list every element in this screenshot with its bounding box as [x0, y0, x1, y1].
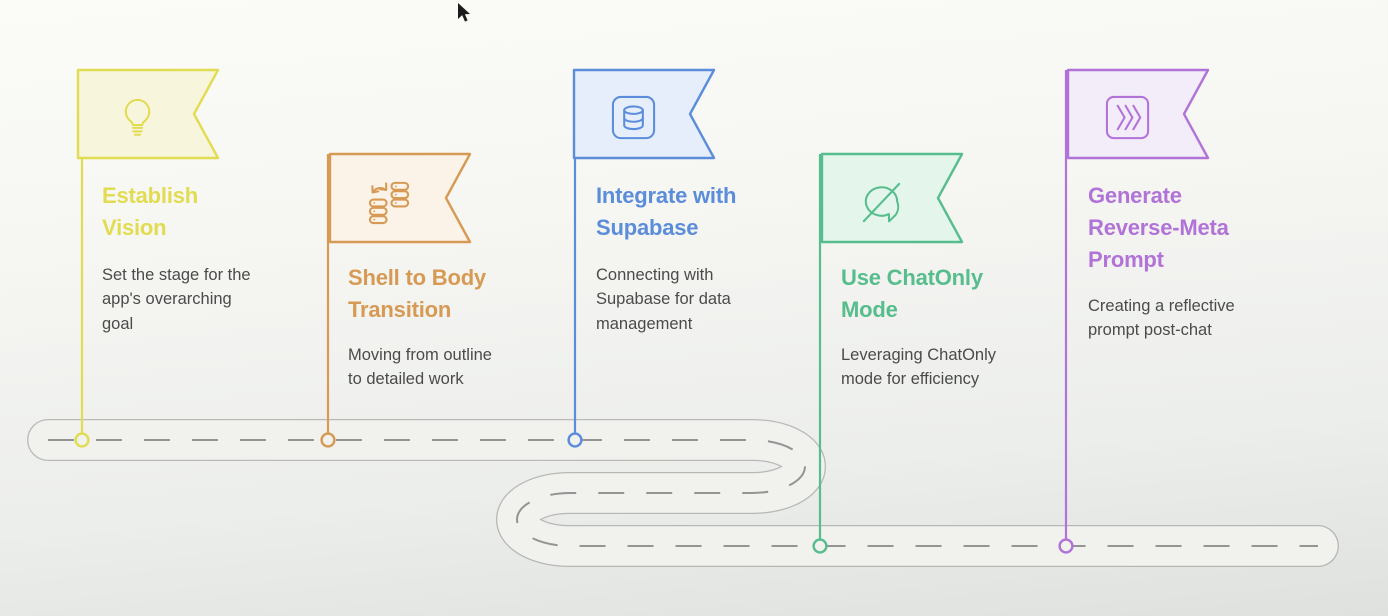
milestone-title: Integrate with Supabase — [596, 180, 791, 244]
milestone-description: Connecting with Supabase for data manage… — [596, 263, 791, 336]
mouse-pointer-icon — [456, 2, 474, 26]
milestone-marker — [569, 434, 582, 447]
milestone-description: Creating a reflective prompt post-chat — [1088, 294, 1288, 343]
milestone-description: Leveraging ChatOnly mode for efficiency — [841, 343, 1041, 392]
server-sync-icon — [328, 150, 568, 246]
milestone-marker — [322, 434, 335, 447]
infographic-canvas: Establish VisionSet the stage for the ap… — [0, 0, 1388, 616]
database-icon — [572, 66, 807, 162]
milestone-title: Generate Reverse-Meta Prompt — [1088, 180, 1288, 276]
milestone-integrate-with-supabase[interactable]: Integrate with SupabaseConnecting with S… — [572, 66, 807, 336]
milestone-establish-vision[interactable]: Establish VisionSet the stage for the ap… — [76, 66, 321, 336]
milestone-description: Set the stage for the app's overarching … — [102, 263, 307, 336]
lightbulb-icon — [76, 66, 321, 162]
milestone-shell-to-body-transition[interactable]: Shell to Body TransitionMoving from outl… — [328, 150, 568, 392]
chat-off-icon — [820, 150, 1060, 246]
triple-chevron-icon — [1066, 66, 1306, 162]
milestone-title: Shell to Body Transition — [348, 262, 548, 326]
milestone-use-chatonly-mode[interactable]: Use ChatOnly ModeLeveraging ChatOnly mod… — [820, 150, 1060, 392]
milestone-marker — [1060, 540, 1073, 553]
milestone-title: Establish Vision — [102, 180, 307, 244]
milestone-generate-reverse-meta-prompt[interactable]: Generate Reverse-Meta PromptCreating a r… — [1066, 66, 1306, 342]
milestone-title: Use ChatOnly Mode — [841, 262, 1041, 326]
milestone-marker — [76, 434, 89, 447]
milestone-description: Moving from outline to detailed work — [348, 343, 548, 392]
milestone-marker — [814, 540, 827, 553]
